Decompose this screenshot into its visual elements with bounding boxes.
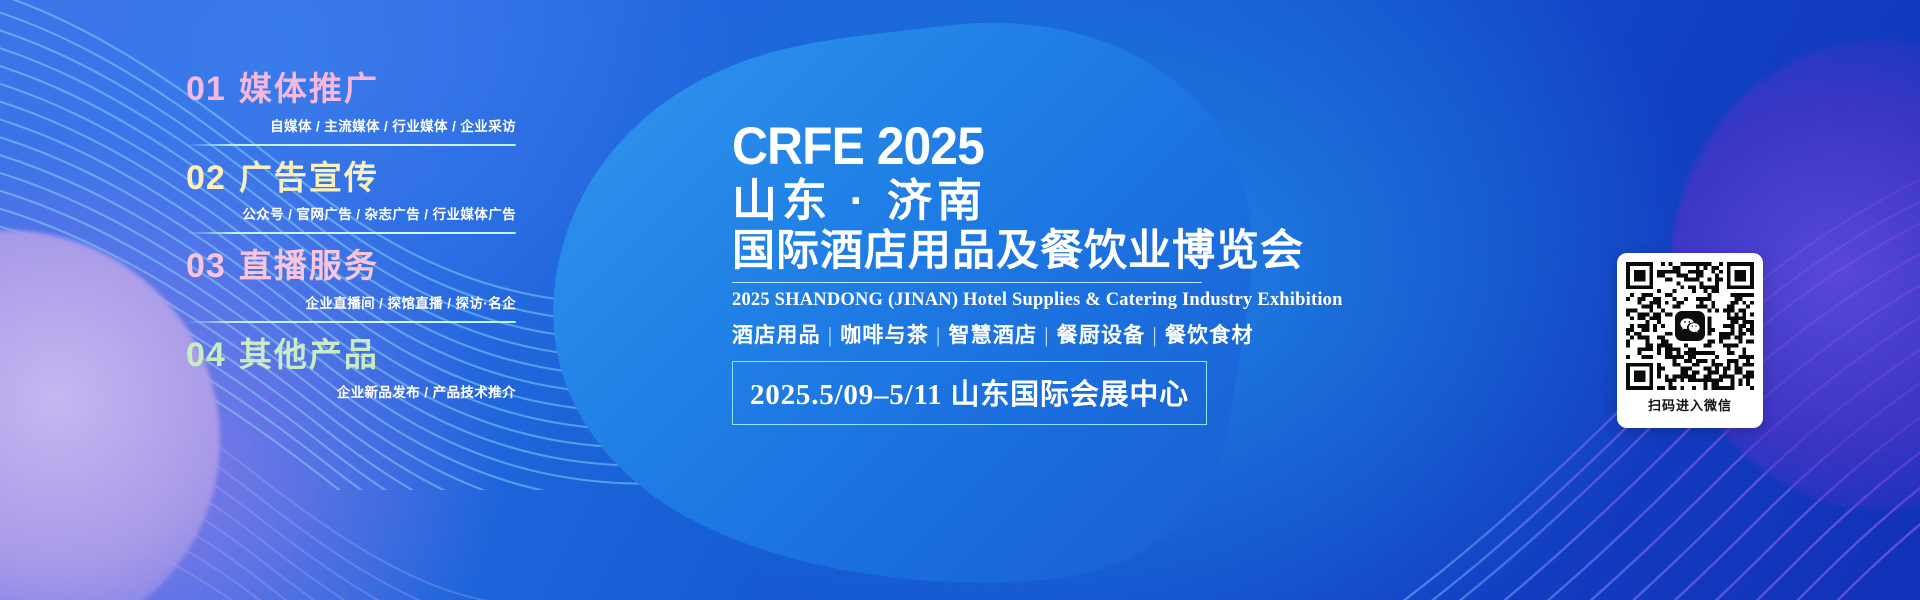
category-separator: |: [929, 323, 948, 347]
feature-number: 03: [186, 249, 226, 285]
feature-head: 02 广告宣传: [186, 161, 516, 197]
feature-title: 其他产品: [239, 338, 379, 373]
category-separator: |: [821, 323, 840, 347]
feature-divider: [186, 232, 516, 234]
feature-title: 广告宣传: [239, 161, 379, 196]
date-venue-text: 2025.5/09–5/11 山东国际会展中心: [750, 371, 1189, 413]
feature-subtitle: 自媒体 / 主流媒体 / 行业媒体 / 企业采访: [186, 115, 516, 135]
qr-code-wrap[interactable]: [1626, 262, 1754, 390]
feature-list: 01 媒体推广 自媒体 / 主流媒体 / 行业媒体 / 企业采访 02 广告宣传…: [186, 72, 516, 408]
wechat-icon: [1675, 311, 1705, 341]
wave-lines-bottom-right-decoration: [1280, 100, 1920, 600]
feature-head: 01 媒体推广: [186, 72, 516, 108]
feature-number: 04: [186, 338, 226, 374]
feature-subtitle: 企业新品发布 / 产品技术推介: [186, 381, 516, 401]
promo-banner: 01 媒体推广 自媒体 / 主流媒体 / 行业媒体 / 企业采访 02 广告宣传…: [0, 0, 1920, 600]
feature-head: 04 其他产品: [186, 338, 516, 374]
feature-divider: [186, 144, 516, 146]
feature-item[interactable]: 04 其他产品 企业新品发布 / 产品技术推介: [186, 338, 516, 408]
feature-subtitle: 公众号 / 官网广告 / 杂志广告 / 行业媒体广告: [186, 203, 516, 223]
event-title-english: 2025 SHANDONG (JINAN) Hotel Supplies & C…: [732, 282, 1202, 311]
event-city-line: 山东 · 济南: [732, 177, 1202, 225]
event-title: 国际酒店用品及餐饮业博览会: [732, 227, 1202, 275]
event-info-block: CRFE 2025 山东 · 济南 国际酒店用品及餐饮业博览会 2025 SHA…: [732, 120, 1202, 425]
date-venue-box: 2025.5/09–5/11 山东国际会展中心: [732, 361, 1207, 425]
event-category-list: 酒店用品|咖啡与茶|智慧酒店|餐厨设备|餐饮食材: [732, 319, 1202, 349]
category-item: 餐厨设备: [1057, 323, 1146, 347]
feature-head: 03 直播服务: [186, 249, 516, 285]
feature-title: 媒体推广: [239, 72, 379, 107]
feature-item[interactable]: 03 直播服务 企业直播间 / 探馆直播 / 探访·名企: [186, 249, 516, 330]
feature-subtitle: 企业直播间 / 探馆直播 / 探访·名企: [186, 292, 516, 312]
category-item: 咖啡与茶: [840, 323, 929, 347]
qr-caption: 扫码进入微信: [1648, 395, 1732, 414]
feature-title: 直播服务: [239, 249, 379, 284]
category-separator: |: [1037, 323, 1056, 347]
category-separator: |: [1145, 323, 1164, 347]
feature-number: 02: [186, 161, 226, 197]
feature-divider: [186, 321, 516, 323]
feature-item[interactable]: 01 媒体推广 自媒体 / 主流媒体 / 行业媒体 / 企业采访: [186, 72, 516, 153]
category-item: 酒店用品: [732, 323, 821, 347]
category-item: 智慧酒店: [948, 323, 1037, 347]
feature-item[interactable]: 02 广告宣传 公众号 / 官网广告 / 杂志广告 / 行业媒体广告: [186, 161, 516, 242]
category-item: 餐饮食材: [1165, 323, 1254, 347]
event-brand-line: CRFE 2025: [732, 120, 1174, 173]
wechat-qr-card[interactable]: 扫码进入微信: [1617, 253, 1763, 428]
feature-number: 01: [186, 72, 226, 108]
